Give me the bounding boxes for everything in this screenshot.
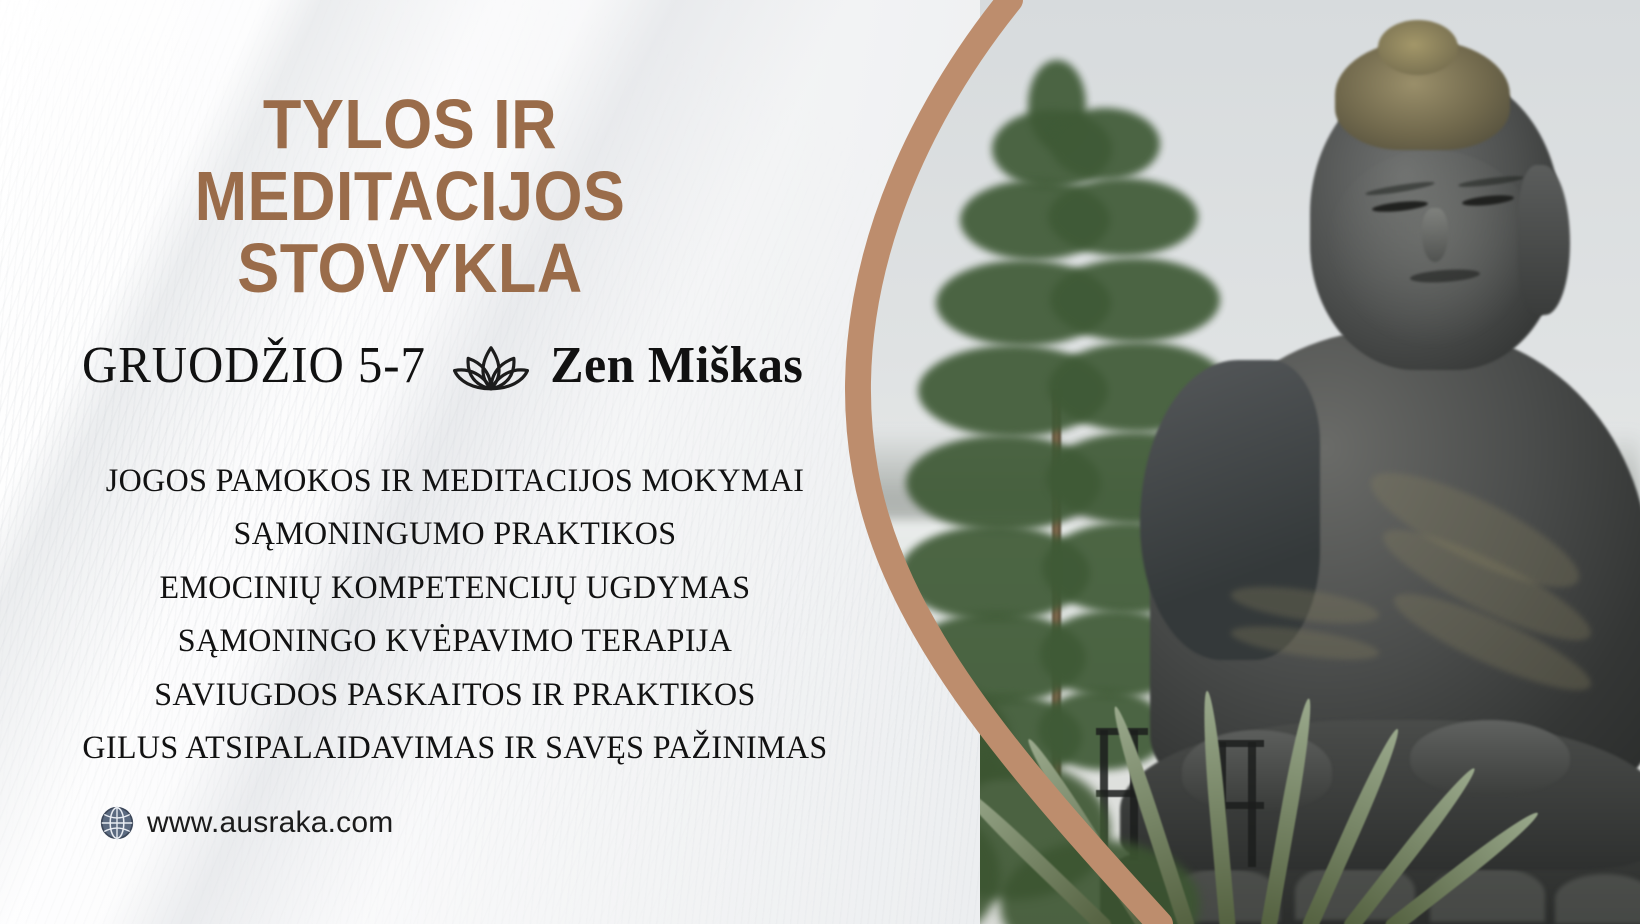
title-line-1: TYLOS IR MEDITACIJOS [195,85,626,235]
poster-text-content: TYLOS IR MEDITACIJOS STOVYKLA GRUODŽIO 5… [0,0,920,924]
list-item: SAVIUGDOS PASKAITOS IR PRAKTIKOS [14,669,897,722]
activities-list: JOGOS PAMOKOS IR MEDITACIJOS MOKYMAI SĄM… [0,455,910,776]
list-item: SĄMONINGUMO PRAKTIKOS [14,508,897,561]
statue-ushnisha [1378,20,1458,75]
event-date: GRUODŽIO 5-7 [82,336,426,395]
globe-icon [100,806,134,840]
list-item: EMOCINIŲ KOMPETENCIJŲ UGDYMAS [14,562,897,615]
list-item: GILUS ATSIPALAIDAVIMAS IR SAVĘS PAŽINIMA… [14,722,897,775]
list-item: SĄMONINGO KVĖPAVIMO TERAPIJA [14,615,897,668]
statue-ear [1518,165,1570,315]
date-and-place-line: GRUODŽIO 5-7 Zen Miškas [0,336,880,395]
statue-nose [1422,208,1448,262]
event-place: Zen Miškas [550,336,803,395]
lotus-icon [453,340,529,392]
list-item: JOGOS PAMOKOS IR MEDITACIJOS MOKYMAI [14,455,897,508]
poster-canvas: TYLOS IR MEDITACIJOS STOVYKLA GRUODŽIO 5… [0,0,1640,924]
website-link[interactable]: www.ausraka.com [100,806,393,840]
title-line-2: STOVYKLA [41,232,779,304]
website-url[interactable]: www.ausraka.com [147,806,393,840]
page-title: TYLOS IR MEDITACIJOS STOVYKLA [41,88,779,304]
